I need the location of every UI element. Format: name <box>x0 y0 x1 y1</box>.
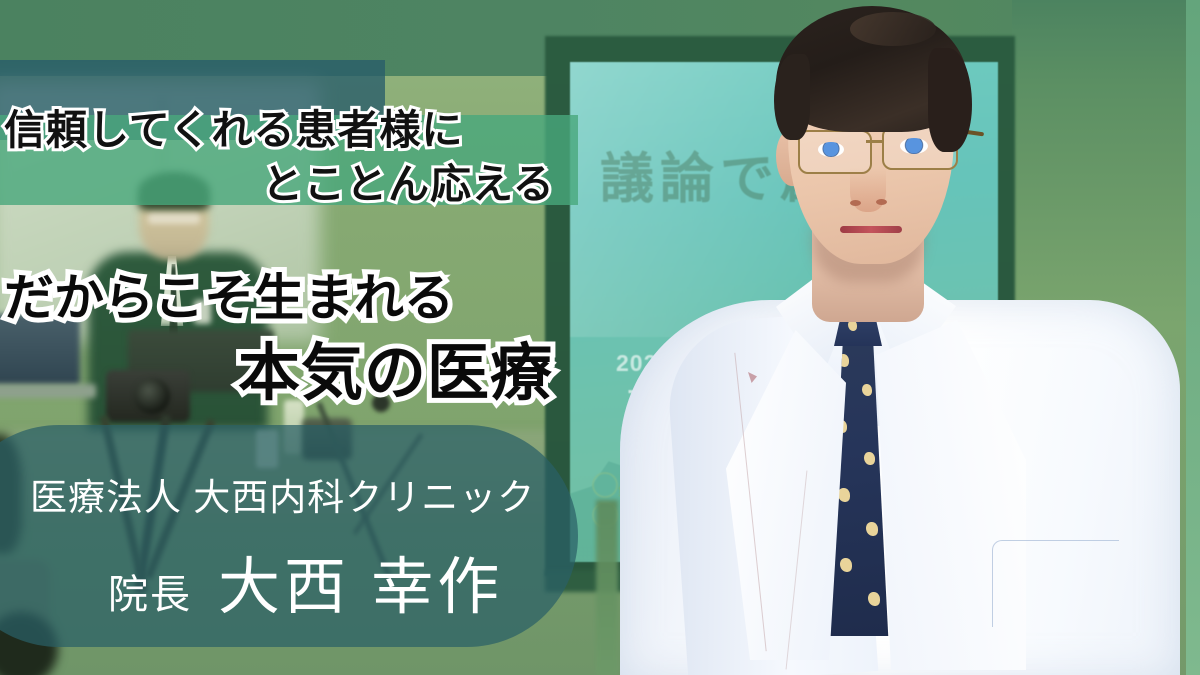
laptop-secondary-base <box>0 384 96 398</box>
doctor-portrait <box>600 0 1200 675</box>
camera-lens <box>134 378 170 414</box>
doctor-title: 院長 <box>108 562 192 620</box>
headline-line-1: 信頼してくれる患者様に <box>4 96 464 156</box>
hair-sideburn-left <box>774 54 810 140</box>
headline-line-3: だからこそ生まれる <box>4 258 454 330</box>
doctor-name: 大西 幸作 <box>218 536 503 626</box>
clinic-name: 医療法人 大西内科クリニック <box>30 467 535 521</box>
headline-line-4: 本気の医療 <box>238 322 553 412</box>
mouth <box>840 226 902 233</box>
speaker-glasses <box>148 213 200 224</box>
nostril-right <box>876 199 887 205</box>
hero-banner: 議論で創 2023年5月12日 (金) ～ アクロス福岡 第32回 日本消 会 … <box>0 0 1200 675</box>
coat-pocket <box>992 540 1119 627</box>
headline-line-2: とことん応える <box>262 150 555 210</box>
nostril-left <box>850 200 861 206</box>
doctor-credit: 院長 大西 幸作 <box>108 536 503 626</box>
hair-part <box>850 12 936 46</box>
eyeglasses-bridge <box>866 140 884 143</box>
hair-sideburn-right <box>928 48 972 152</box>
